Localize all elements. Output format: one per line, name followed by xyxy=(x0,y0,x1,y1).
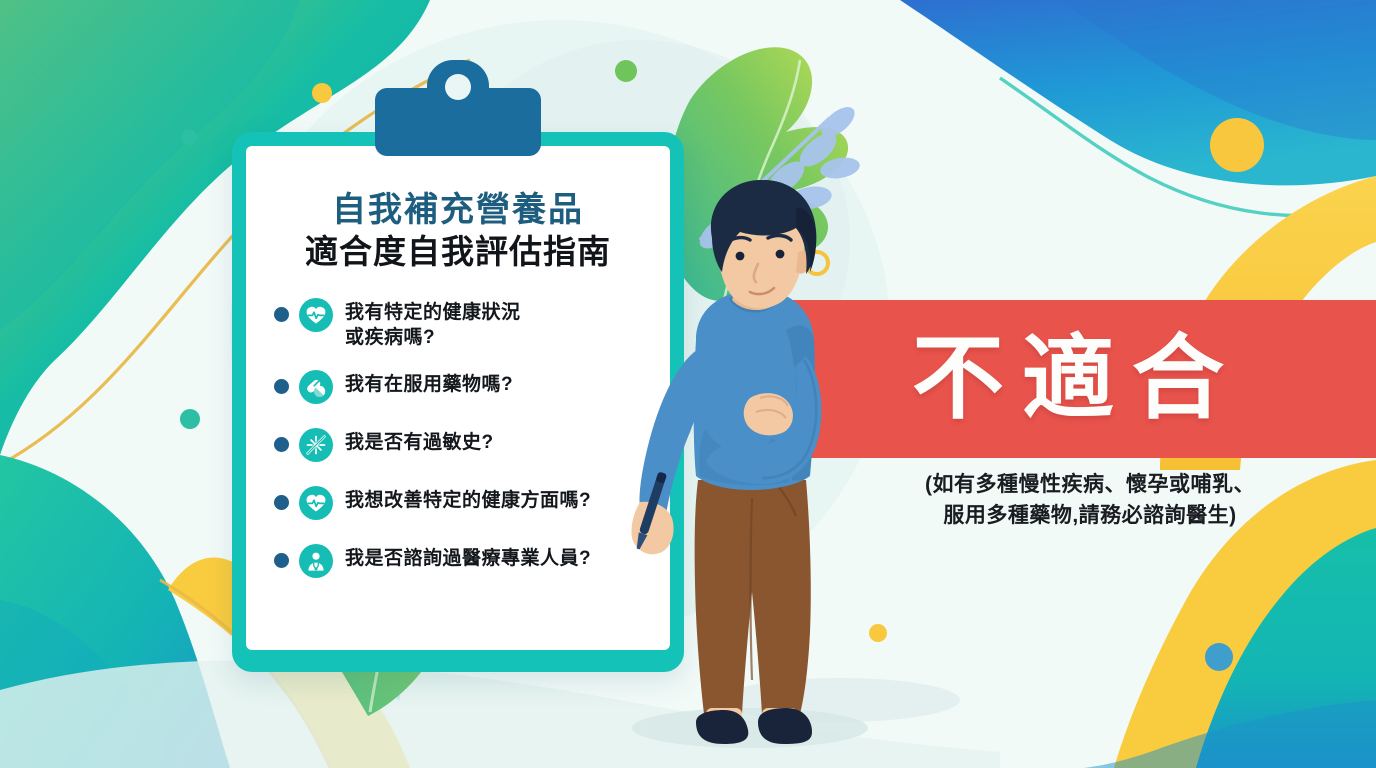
checklist-text-line: 或疾病嗎? xyxy=(345,327,435,348)
verdict-note: (如有多種慢性疾病、懷孕或哺乳、 服用多種藥物,請務必諮詢醫生) xyxy=(830,470,1350,531)
checklist-item[interactable]: 我是否諮詢過醫療專業人員? xyxy=(274,544,656,578)
checklist-item[interactable]: 我是否有過敏史? xyxy=(274,428,656,462)
bullet-dot xyxy=(274,553,289,568)
bullet-dot xyxy=(274,379,289,394)
allergy-no-icon xyxy=(299,428,333,462)
dot-teal xyxy=(180,409,200,429)
dot-yellow xyxy=(312,83,332,103)
doctor-icon xyxy=(299,544,333,578)
clipboard-clip-hole xyxy=(445,74,471,100)
thinking-man-illustration xyxy=(600,180,900,768)
verdict-note-line-1: (如有多種慢性疾病、懷孕或哺乳、 xyxy=(925,473,1255,496)
checklist-item-label: 我有在服用藥物嗎? xyxy=(345,370,513,397)
heart-pulse-icon xyxy=(299,486,333,520)
hand xyxy=(744,393,793,435)
verdict-banner-text: 不適合 xyxy=(894,333,1242,425)
checklist-item[interactable]: 我有特定的健康狀況 或疾病嗎? xyxy=(274,298,656,350)
checklist-item-label: 我是否有過敏史? xyxy=(345,428,494,455)
checklist: 我有特定的健康狀況 或疾病嗎? 我有在服 xyxy=(274,298,656,602)
checklist-item-label: 我想改善特定的健康方面嗎? xyxy=(345,486,591,513)
dot-green xyxy=(615,60,637,82)
heart-pulse-icon xyxy=(299,298,333,332)
dot-blue xyxy=(1205,643,1233,671)
verdict-note-line-2: 服用多種藥物,請務必諮詢醫生) xyxy=(943,504,1236,527)
poster-canvas: 自我補充營養品 適合度自我評估指南 我有特定的健康狀況 或疾病嗎? xyxy=(0,0,1376,768)
bullet-dot xyxy=(274,307,289,322)
checklist-text-line: 我有特定的健康狀況 xyxy=(345,302,521,323)
checklist-item-label: 我有特定的健康狀況 或疾病嗎? xyxy=(345,298,521,350)
checklist-item[interactable]: 我想改善特定的健康方面嗎? xyxy=(274,486,656,520)
bullet-dot xyxy=(274,437,289,452)
dot-yellow-large xyxy=(1210,118,1264,172)
checklist-item[interactable]: 我有在服用藥物嗎? xyxy=(274,370,656,404)
checklist-item-label: 我是否諮詢過醫療專業人員? xyxy=(345,544,591,571)
pills-icon xyxy=(299,370,333,404)
bullet-dot xyxy=(274,495,289,510)
